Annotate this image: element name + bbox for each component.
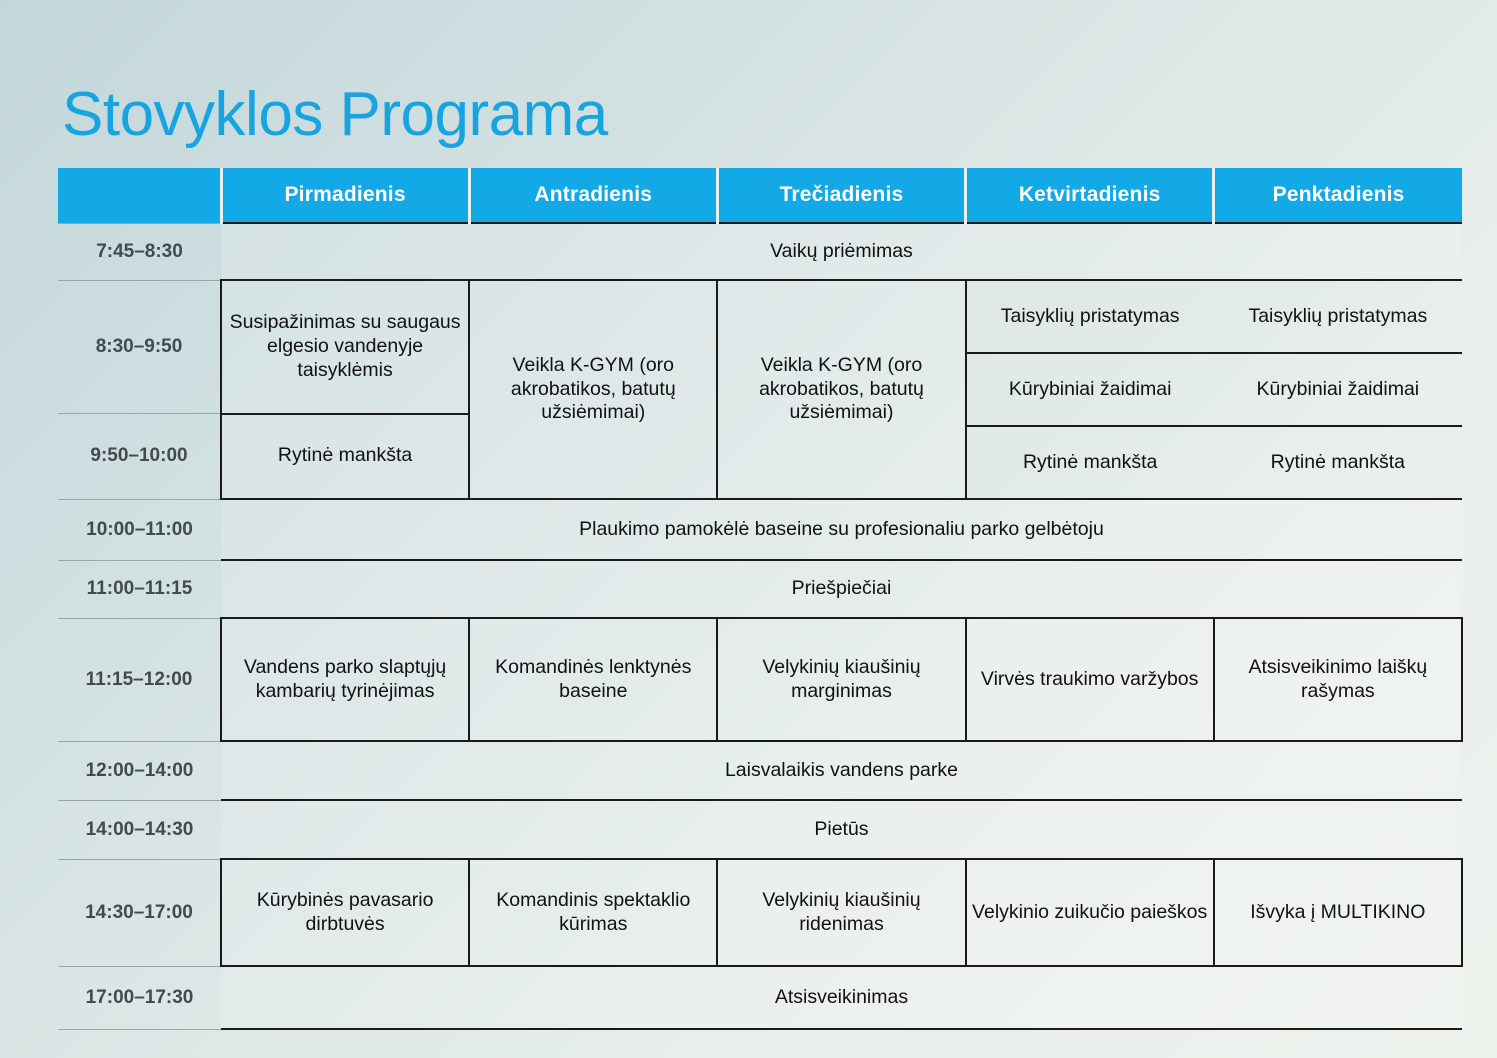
time-label-free-time: 12:00–14:00	[58, 741, 221, 800]
table-row-arrival: 7:45–8:30 Vaikų priėmimas	[58, 223, 1462, 280]
table-row: Kūrybiniai žaidimai	[1214, 353, 1462, 426]
table-row-afternoon: 14:30–17:00 Kūrybinės pavasario dirbtuvė…	[58, 859, 1462, 966]
activity-farewell-all-days: Atsisveikinimas	[221, 966, 1462, 1029]
activity-friday-morning-exercise: Rytinė mankšta	[1214, 426, 1462, 498]
table-row: Taisyklių pristatymas	[1214, 281, 1462, 353]
activity-tuesday-late-morning: Komandinės lenktynės baseine	[469, 618, 717, 741]
table-row: Kūrybiniai žaidimai	[967, 353, 1214, 426]
activity-monday-safety-rules: Susipažinimas su saugaus elgesio vandeny…	[221, 280, 469, 414]
activity-arrival-all-days: Vaikų priėmimas	[221, 223, 1462, 280]
activity-friday-late-morning: Atsisveikinimo laiškų rašymas	[1214, 618, 1462, 741]
time-label-farewell: 17:00–17:30	[58, 966, 221, 1029]
table-row-swim: 10:00–11:00 Plaukimo pamokėlė baseine su…	[58, 499, 1462, 560]
activity-monday-morning-exercise: Rytinė mankšta	[221, 414, 469, 499]
activity-thursday-creative-games: Kūrybiniai žaidimai	[967, 353, 1214, 426]
activity-lunch-all-days: Pietūs	[221, 800, 1462, 859]
activity-thursday-morning-group: Taisyklių pristatymas Kūrybiniai žaidima…	[966, 280, 1214, 499]
thursday-morning-subtable: Taisyklių pristatymas Kūrybiniai žaidima…	[967, 281, 1214, 498]
activity-tuesday-afternoon: Komandinis spektaklio kūrimas	[469, 859, 717, 966]
time-label-snack: 11:00–11:15	[58, 560, 221, 618]
activity-thursday-morning-exercise: Rytinė mankšta	[967, 426, 1214, 498]
time-label-lunch: 14:00–14:30	[58, 800, 221, 859]
activity-monday-late-morning: Vandens parko slaptųjų kambarių tyrinėji…	[221, 618, 469, 741]
activity-friday-rules: Taisyklių pristatymas	[1214, 281, 1462, 353]
header-day-thursday: Ketvirtadienis	[966, 168, 1214, 223]
table-body: 7:45–8:30 Vaikų priėmimas 8:30–9:50 Susi…	[58, 223, 1462, 1029]
activity-tuesday-kgym: Veikla K-GYM (oro akrobatikos, batutų už…	[469, 280, 717, 499]
header-day-monday: Pirmadienis	[221, 168, 469, 223]
page-title: Stovyklos Programa	[62, 84, 608, 146]
activity-thursday-rules: Taisyklių pristatymas	[967, 281, 1214, 353]
header-row: Pirmadienis Antradienis Trečiadienis Ket…	[58, 168, 1462, 223]
activity-wednesday-kgym: Veikla K-GYM (oro akrobatikos, batutų už…	[717, 280, 965, 499]
header-corner-cell	[58, 168, 221, 223]
time-label-morning-main: 8:30–9:50	[58, 280, 221, 414]
activity-thursday-late-morning: Virvės traukimo varžybos	[966, 618, 1214, 741]
table-row: Taisyklių pristatymas	[967, 281, 1214, 353]
activity-swim-all-days: Plaukimo pamokėlė baseine su profesional…	[221, 499, 1462, 560]
table-row-morning-main: 8:30–9:50 Susipažinimas su saugaus elges…	[58, 280, 1462, 414]
table-header: Pirmadienis Antradienis Trečiadienis Ket…	[58, 168, 1462, 223]
header-day-tuesday: Antradienis	[469, 168, 717, 223]
table-row: Rytinė mankšta	[967, 426, 1214, 498]
activity-free-time-all-days: Laisvalaikis vandens parke	[221, 741, 1462, 800]
table-row-late-morning: 11:15–12:00 Vandens parko slaptųjų kamba…	[58, 618, 1462, 741]
time-label-afternoon: 14:30–17:00	[58, 859, 221, 966]
table-row: Rytinė mankšta	[1214, 426, 1462, 498]
table-row-farewell: 17:00–17:30 Atsisveikinimas	[58, 966, 1462, 1029]
header-day-friday: Penktadienis	[1214, 168, 1462, 223]
activity-snack-all-days: Priešpiečiai	[221, 560, 1462, 618]
header-day-wednesday: Trečiadienis	[717, 168, 965, 223]
time-label-late-morning: 11:15–12:00	[58, 618, 221, 741]
time-label-swim: 10:00–11:00	[58, 499, 221, 560]
time-label-morning-exercise: 9:50–10:00	[58, 414, 221, 499]
activity-wednesday-late-morning: Velykinių kiaušinių marginimas	[717, 618, 965, 741]
activity-thursday-afternoon: Velykinio zuikučio paieškos	[966, 859, 1214, 966]
schedule-page: Stovyklos Programa Pirmadienis Antradien…	[0, 0, 1497, 1058]
activity-monday-afternoon: Kūrybinės pavasario dirbtuvės	[221, 859, 469, 966]
table-row-lunch: 14:00–14:30 Pietūs	[58, 800, 1462, 859]
time-label-arrival: 7:45–8:30	[58, 223, 221, 280]
friday-morning-subtable: Taisyklių pristatymas Kūrybiniai žaidima…	[1214, 281, 1462, 498]
camp-schedule-table: Pirmadienis Antradienis Trečiadienis Ket…	[58, 168, 1463, 1030]
activity-wednesday-afternoon: Velykinių kiaušinių ridenimas	[717, 859, 965, 966]
activity-friday-creative-games: Kūrybiniai žaidimai	[1214, 353, 1462, 426]
table-row-snack: 11:00–11:15 Priešpiečiai	[58, 560, 1462, 618]
table-row-free-time: 12:00–14:00 Laisvalaikis vandens parke	[58, 741, 1462, 800]
activity-friday-afternoon: Išvyka į MULTIKINO	[1214, 859, 1462, 966]
activity-friday-morning-group: Taisyklių pristatymas Kūrybiniai žaidima…	[1214, 280, 1462, 499]
